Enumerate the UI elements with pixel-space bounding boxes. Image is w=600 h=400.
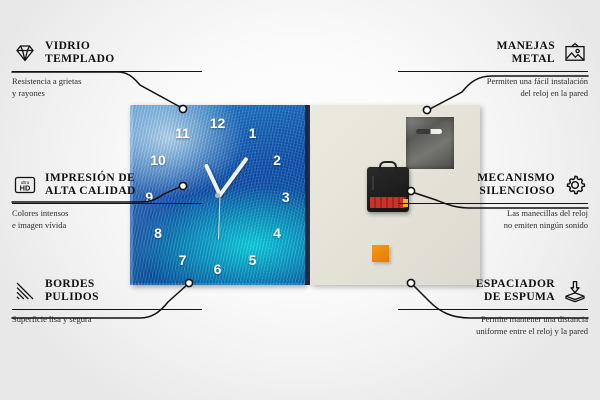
callout-desc-line2: no emiten ningún sonido	[398, 220, 588, 231]
mechanism-detail	[372, 176, 392, 190]
clock-numeral-4: 4	[273, 226, 281, 240]
callout-title: IMPRESIÓN DE ALTA CALIDAD	[45, 172, 136, 198]
foam-spacer-icon	[562, 278, 588, 304]
callout-desc-line2: del reloj en la pared	[398, 88, 588, 99]
callout-vidrio-templado[interactable]: VIDRIO TEMPLADO Resistencia a grietas y …	[12, 40, 202, 99]
callout-divider	[12, 309, 202, 310]
infographic-canvas: 12 1 2 3 4 5 6 7 8 9 10 11	[0, 0, 600, 400]
foam-spacer	[372, 245, 389, 262]
callout-divider	[12, 203, 202, 204]
diamond-icon	[12, 40, 38, 66]
callout-desc-line2: y rayones	[12, 88, 202, 99]
callout-desc-line1: Colores intensos	[12, 208, 202, 219]
clock-numeral-2: 2	[273, 153, 281, 167]
callout-divider	[12, 71, 202, 72]
callout-bordes-pulidos[interactable]: BORDES PULIDOS Superficie lisa y segura	[12, 278, 202, 326]
clock-numeral-7: 7	[179, 253, 187, 267]
callout-header: MECANISMO SILENCIOSO	[398, 172, 588, 198]
callout-mecanismo-silencioso[interactable]: MECANISMO SILENCIOSO Las manecillas del …	[398, 172, 588, 231]
clock-numeral-10: 10	[150, 153, 166, 167]
callout-title: VIDRIO TEMPLADO	[45, 40, 115, 66]
callout-header: ultra HD IMPRESIÓN DE ALTA CALIDAD	[12, 172, 202, 198]
callout-impresion-alta-calidad[interactable]: ultra HD IMPRESIÓN DE ALTA CALIDAD Color…	[12, 172, 202, 231]
clock-numeral-1: 1	[249, 126, 257, 140]
callout-desc-line1: Resistencia a grietas	[12, 76, 202, 87]
svg-text:HD: HD	[20, 184, 31, 193]
callout-espaciador-espuma[interactable]: ESPACIADOR DE ESPUMA Permite mantener un…	[398, 278, 588, 337]
callout-desc-line1: Las manecillas del reloj	[398, 208, 588, 219]
callout-title: MANEJAS METAL	[497, 40, 555, 66]
callout-divider	[398, 71, 588, 72]
clock-numeral-9: 9	[145, 190, 153, 204]
clock-numeral-11: 11	[175, 126, 190, 140]
clock-numeral-6: 6	[214, 262, 222, 276]
hanger-slot	[416, 129, 442, 134]
callout-header: VIDRIO TEMPLADO	[12, 40, 202, 66]
callout-divider	[398, 309, 588, 310]
callout-title: MECANISMO SILENCIOSO	[477, 172, 555, 198]
metal-hanger	[406, 117, 454, 169]
callout-desc-line1: Permiten una fácil instalación	[398, 76, 588, 87]
callout-desc-line2: e imagen vívida	[12, 220, 202, 231]
callout-manejas-metal[interactable]: MANEJAS METAL Permiten una fácil instala…	[398, 40, 588, 99]
callout-header: MANEJAS METAL	[398, 40, 588, 66]
callout-title: ESPACIADOR DE ESPUMA	[476, 278, 555, 304]
callout-header: BORDES PULIDOS	[12, 278, 202, 304]
clock-second-hand	[217, 193, 220, 239]
clock-minute-hand	[217, 157, 248, 198]
clock-numeral-12: 12	[210, 116, 226, 130]
gear-icon	[562, 172, 588, 198]
callout-title: BORDES PULIDOS	[45, 278, 99, 304]
callout-desc-line1: Superficie lisa y segura	[12, 314, 202, 325]
clock-numeral-5: 5	[249, 253, 257, 267]
hanging-picture-icon	[562, 40, 588, 66]
callout-divider	[398, 203, 588, 204]
callout-header: ESPACIADOR DE ESPUMA	[398, 278, 588, 304]
callout-desc-line2: uniforme entre el reloj y la pared	[398, 326, 588, 337]
mechanism-loop	[379, 161, 397, 171]
diagonal-lines-icon	[12, 278, 38, 304]
ultra-hd-icon: ultra HD	[12, 172, 38, 198]
callout-desc-line1: Permite mantener una distancia	[398, 314, 588, 325]
clock-numeral-3: 3	[282, 190, 290, 204]
clock-center-hub	[215, 193, 220, 198]
clock-numeral-8: 8	[154, 226, 162, 240]
